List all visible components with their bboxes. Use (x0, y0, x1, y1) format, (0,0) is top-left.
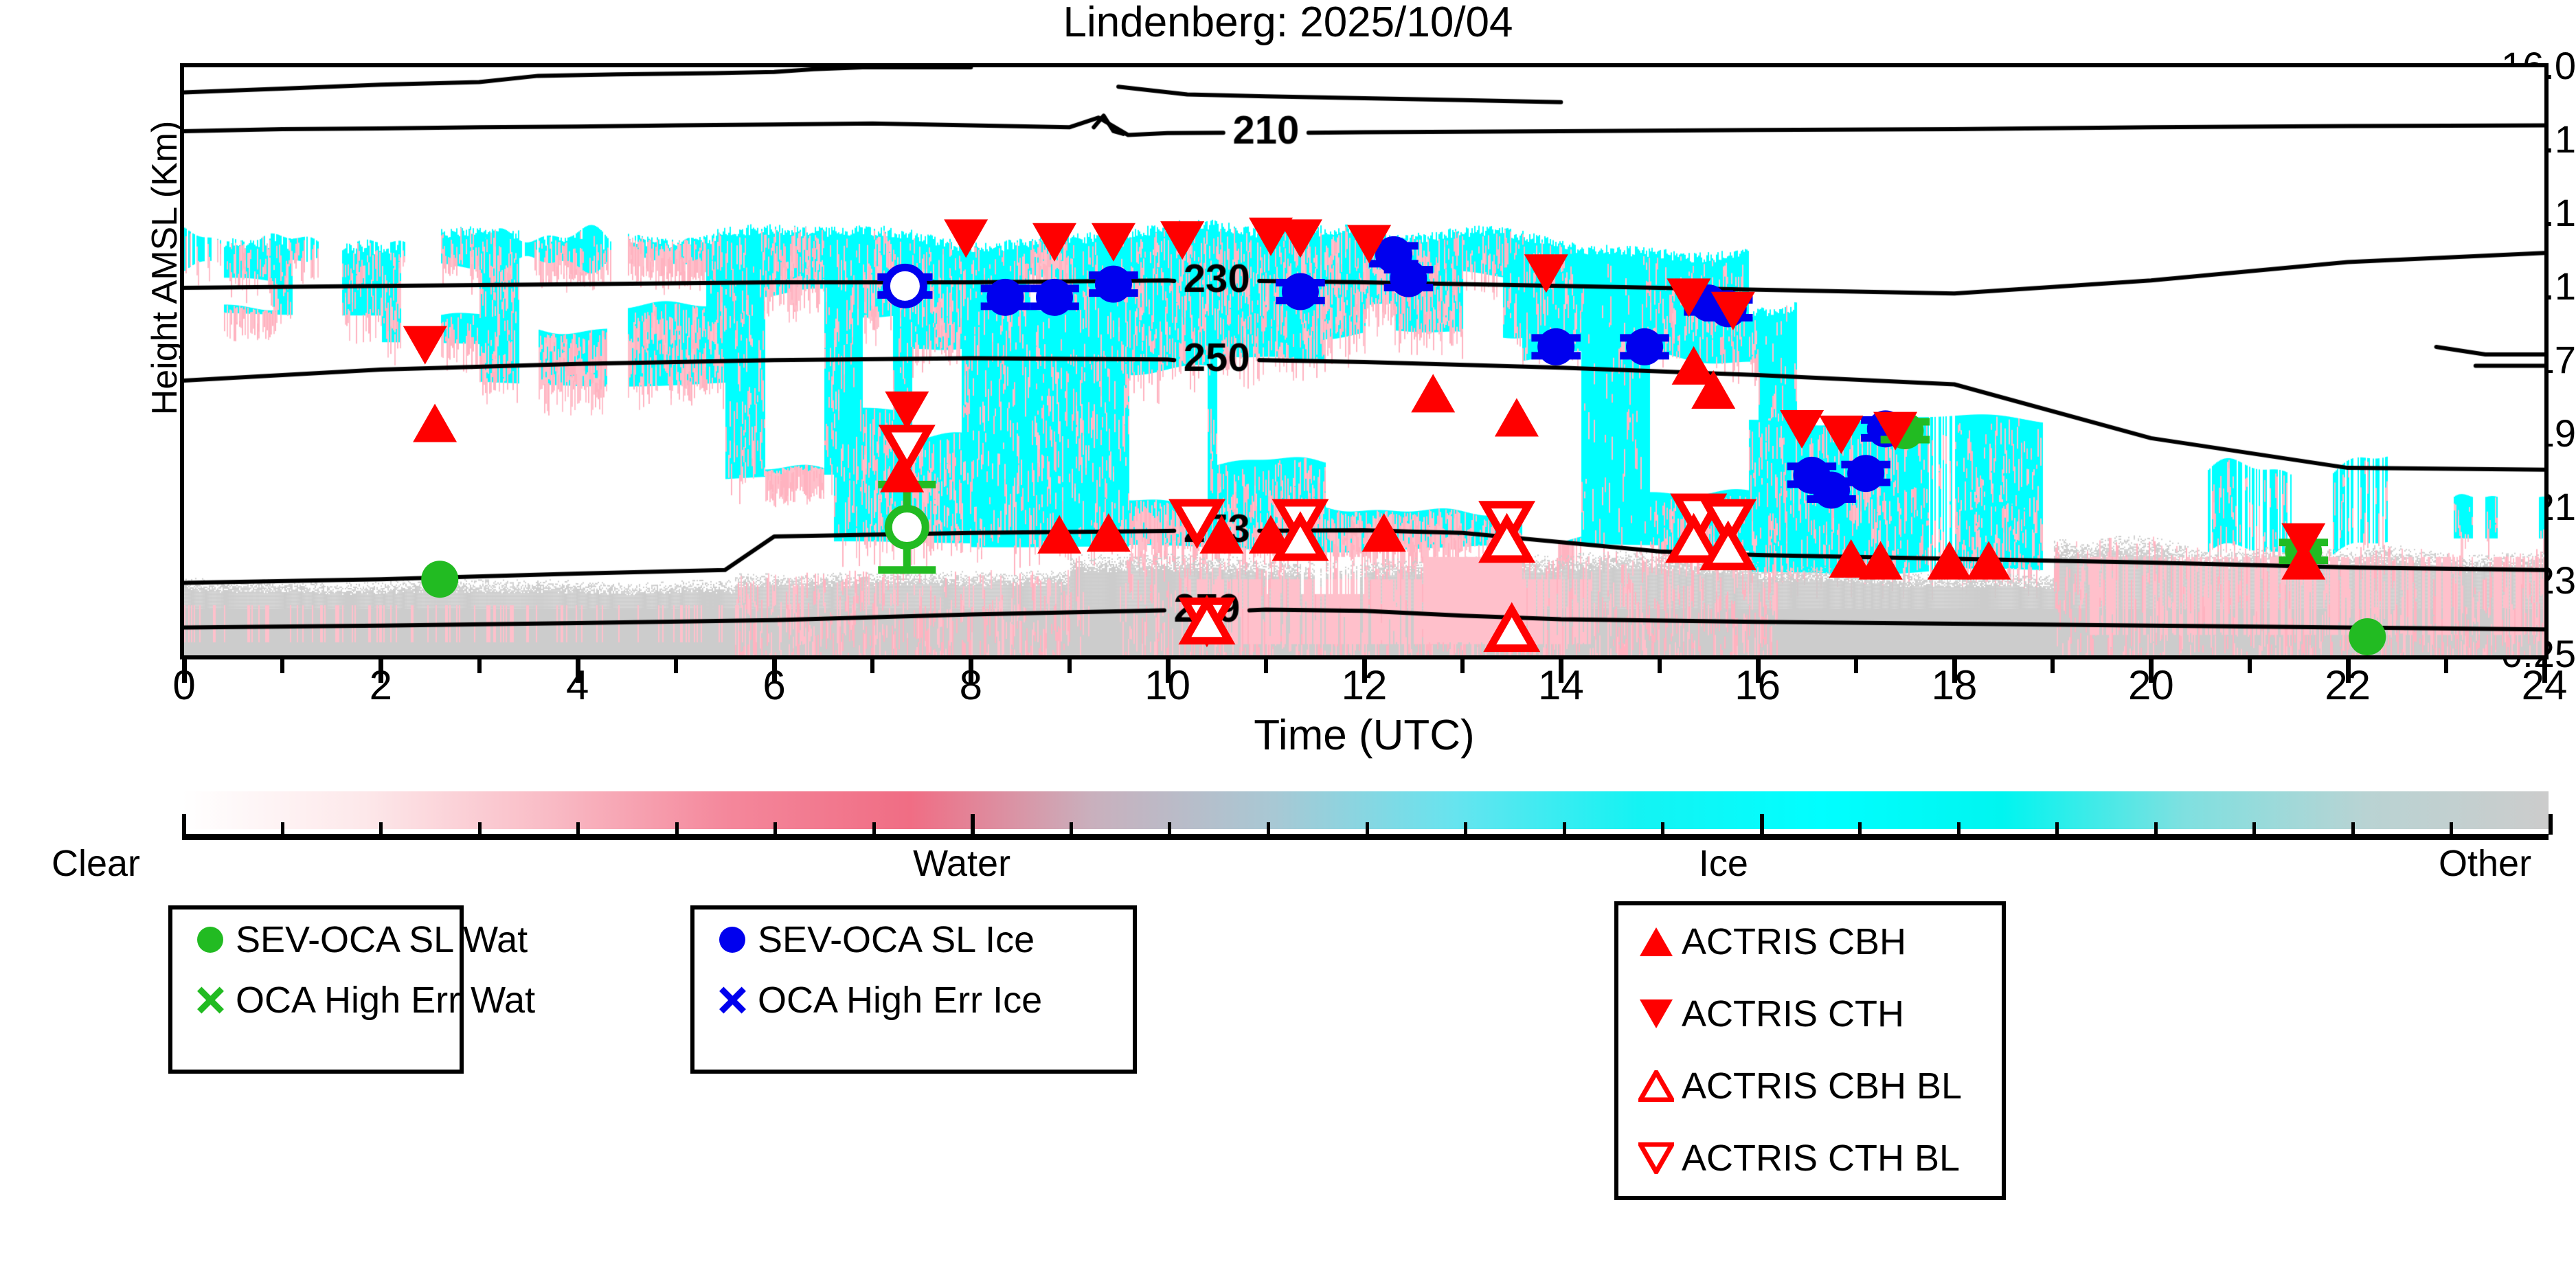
filled-circle-marker (1282, 273, 1319, 310)
legend-water: SEV-OCA SL Wat OCA High Err Wat (168, 905, 464, 1074)
filled-circle-marker (1095, 266, 1132, 303)
legend-item[interactable]: OCA High Err Ice (694, 970, 1133, 1030)
legend-ice: SEV-OCA SL Ice OCA High Err Ice (690, 905, 1137, 1074)
x-tick-mark-minor (674, 659, 678, 673)
colorbar (182, 791, 2549, 839)
colorbar-tick (1760, 814, 1764, 835)
x-tick-mark-minor (2444, 659, 2448, 673)
colorbar-tick (281, 822, 284, 835)
red-open-triangle-up-icon (1631, 1070, 1682, 1102)
colorbar-tick (1267, 822, 1270, 835)
y-axis-label: Height AMSL (Km) (144, 76, 185, 460)
x-tick-mark-minor (1460, 659, 1465, 673)
colorbar-tick (1858, 822, 1862, 835)
filled-triangle-down-marker (403, 326, 447, 365)
filled-triangle-down-marker (1780, 410, 1824, 449)
x-tick-mark-minor (1264, 659, 1268, 673)
cloud-classification-plot[interactable] (180, 63, 2549, 659)
filled-triangle-up-marker (1495, 398, 1539, 437)
x-tick-mark-minor (1854, 659, 1858, 673)
x-tick-mark (2149, 659, 2154, 683)
legend-item[interactable]: ACTRIS CBH (1618, 905, 2002, 978)
x-tick-mark-minor (870, 659, 874, 673)
colorbar-label: Water (913, 844, 1010, 883)
x-tick-mark (969, 659, 973, 683)
plot-markers-overlay (184, 67, 2544, 655)
filled-circle-marker (986, 279, 1024, 316)
filled-triangle-down-marker (1032, 223, 1076, 262)
x-tick-mark (1362, 659, 1367, 683)
legend-label: SEV-OCA SL Wat (236, 920, 528, 960)
filled-triangle-down-marker (1092, 223, 1136, 262)
filled-triangle-up-marker (1087, 513, 1131, 552)
filled-triangle-up-marker (1859, 541, 1903, 580)
open-triangle-up-marker (1672, 521, 1716, 559)
x-tick-mark-minor (1658, 659, 1662, 673)
legend-label: OCA High Err Wat (236, 980, 535, 1020)
x-axis-label: Time (UTC) (180, 711, 2549, 760)
colorbar-tick (2351, 822, 2355, 835)
x-tick-mark (2346, 659, 2351, 683)
filled-triangle-up-marker (1037, 515, 1081, 554)
colorbar-tick (1563, 822, 1566, 835)
red-open-triangle-down-icon (1631, 1142, 1682, 1174)
x-tick-mark (2542, 659, 2547, 683)
legend-item[interactable]: ACTRIS CTH BL (1618, 1122, 2002, 1194)
filled-triangle-down-marker (1524, 254, 1568, 293)
open-triangle-up-marker (1278, 519, 1322, 557)
open-triangle-down-marker (885, 429, 929, 467)
x-tick-mark (1559, 659, 1563, 683)
legend-item[interactable]: ACTRIS CBH BL (1618, 1050, 2002, 1122)
filled-triangle-down-marker (1278, 219, 1322, 258)
filled-circle-marker (1036, 279, 1073, 316)
x-tick-mark-minor (477, 659, 482, 673)
filled-circle-marker (1813, 472, 1850, 509)
filled-triangle-down-marker (944, 219, 988, 258)
legend-item[interactable]: SEV-OCA SL Wat (172, 909, 460, 970)
colorbar-tick (576, 822, 580, 835)
filled-triangle-down-marker (1819, 416, 1863, 454)
legend-label: ACTRIS CTH BL (1682, 1138, 1960, 1178)
colorbar-axis-line (182, 834, 2549, 840)
colorbar-tick (182, 814, 186, 835)
colorbar-tick (872, 822, 876, 835)
open-circle-marker (888, 509, 925, 546)
filled-triangle-down-marker (885, 392, 929, 430)
filled-circle-marker (1537, 328, 1574, 365)
colorbar-tick (379, 822, 383, 835)
colorbar-tick (478, 822, 482, 835)
filled-circle-marker (2349, 618, 2386, 655)
red-filled-triangle-down-icon (1631, 998, 1682, 1030)
open-triangle-up-marker (1485, 521, 1529, 559)
filled-triangle-down-marker (1160, 221, 1204, 260)
colorbar-tick (1070, 822, 1073, 835)
x-tick-mark (576, 659, 580, 683)
green-x-icon (185, 984, 236, 1016)
x-tick-mark-minor (2050, 659, 2055, 673)
x-tick-mark-minor (2248, 659, 2252, 673)
colorbar-tick (1168, 822, 1171, 835)
legend-label: SEV-OCA SL Ice (758, 920, 1035, 960)
x-tick-mark (379, 659, 383, 683)
colorbar-tick (1661, 822, 1664, 835)
colorbar-tick (1957, 822, 1961, 835)
x-tick-label: 24 (2489, 665, 2576, 706)
legend-actris: ACTRIS CBH ACTRIS CTH ACTRIS CBH BL ACTR… (1614, 901, 2006, 1200)
colorbar-tick (2252, 822, 2256, 835)
filled-triangle-up-marker (1362, 513, 1406, 552)
legend-label: ACTRIS CBH BL (1682, 1066, 1962, 1106)
legend-item[interactable]: SEV-OCA SL Ice (694, 909, 1133, 970)
blue-filled-circle-icon (707, 927, 758, 953)
colorbar-tick (971, 814, 975, 835)
page-title: Lindenberg: 2025/10/04 (0, 1, 2576, 44)
colorbar-label: Clear (52, 844, 140, 883)
filled-triangle-up-marker (1928, 541, 1971, 580)
open-circle-marker (886, 267, 923, 304)
filled-triangle-up-marker (1967, 541, 2011, 580)
x-tick-mark (1756, 659, 1761, 683)
blue-x-icon (707, 984, 758, 1016)
colorbar-tick (1366, 822, 1369, 835)
x-tick-mark-minor (1067, 659, 1072, 673)
filled-triangle-up-marker (1411, 374, 1455, 412)
red-filled-triangle-up-icon (1631, 926, 1682, 958)
x-tick-mark (1166, 659, 1171, 683)
filled-triangle-up-marker (413, 404, 457, 442)
open-triangle-up-marker (1490, 610, 1534, 648)
filled-circle-marker (1626, 328, 1663, 365)
x-tick-mark (182, 659, 187, 683)
colorbar-label: Other (2439, 844, 2531, 883)
legend-label: OCA High Err Ice (758, 980, 1042, 1020)
legend-label: ACTRIS CBH (1682, 922, 1906, 962)
colorbar-tick (2055, 822, 2059, 835)
x-tick-mark (772, 659, 777, 683)
filled-circle-marker (1390, 260, 1427, 297)
colorbar-tick (2154, 822, 2158, 835)
green-filled-circle-icon (185, 927, 236, 953)
colorbar-tick (1464, 822, 1467, 835)
colorbar-tick (675, 822, 679, 835)
colorbar-label: Ice (1699, 844, 1748, 883)
colorbar-tick (2450, 822, 2453, 835)
legend-item[interactable]: OCA High Err Wat (172, 970, 460, 1030)
legend-label: ACTRIS CTH (1682, 994, 1904, 1034)
x-tick-mark-minor (280, 659, 284, 673)
legend-item[interactable]: ACTRIS CTH (1618, 978, 2002, 1050)
colorbar-tick (2549, 814, 2553, 835)
filled-circle-marker (421, 561, 458, 598)
filled-circle-marker (1847, 455, 1884, 492)
colorbar-tick (773, 822, 777, 835)
x-tick-mark (1952, 659, 1957, 683)
